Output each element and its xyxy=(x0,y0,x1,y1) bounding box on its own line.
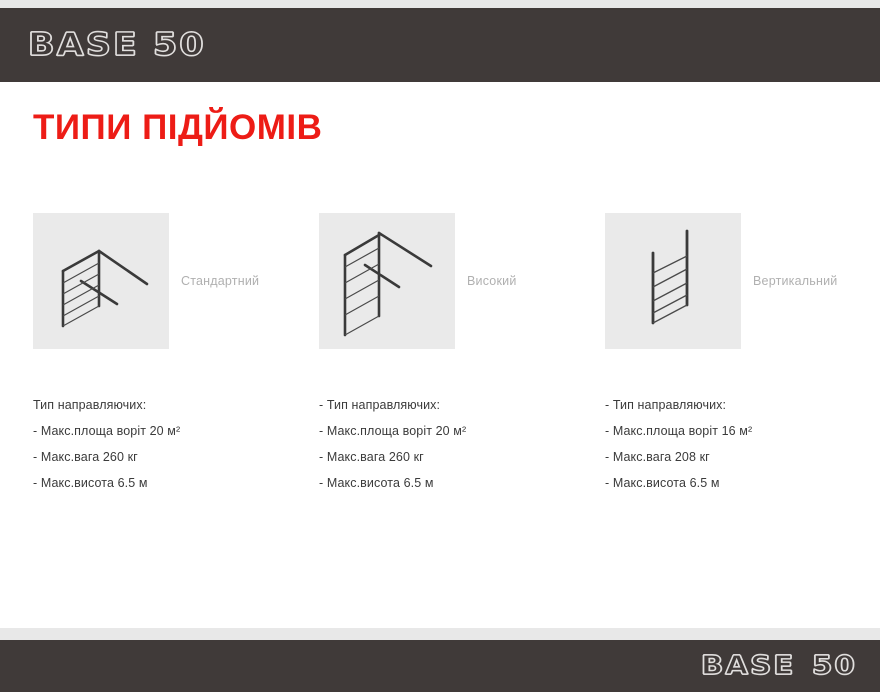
lift-types-row: Стандартний xyxy=(0,213,880,353)
vertical-lift-thumbnail xyxy=(605,213,741,349)
spec-line: - Тип направляючих: xyxy=(605,392,875,418)
logo-word-text: BASE xyxy=(28,30,139,61)
spec-line: - Макс.вага 208 кг xyxy=(605,444,875,470)
lift-type-label-high: Високий xyxy=(467,274,517,288)
footer-gap xyxy=(0,628,880,640)
slide: BASE 50 ТИПИ ПІДЙОМІВ xyxy=(0,0,880,700)
footer-bar: BASE 50 xyxy=(0,640,880,692)
lift-type-label-vertical: Вертикальний xyxy=(753,274,837,288)
high-lift-thumbnail xyxy=(319,213,455,349)
lift-type-card-vertical: Вертикальний xyxy=(605,213,837,349)
logo-number-text: 50 xyxy=(812,653,857,679)
header-logo: BASE 50 xyxy=(28,30,200,61)
lift-type-card-high: Високий xyxy=(319,213,517,349)
logo-number-text: 50 xyxy=(153,30,206,61)
spec-column-high: - Тип направляючих: - Макс.площа воріт 2… xyxy=(319,392,589,496)
spec-line: - Макс.площа воріт 20 м² xyxy=(319,418,589,444)
spec-column-standard: Тип направляючих: - Макс.площа воріт 20 … xyxy=(33,392,303,496)
vertical-lift-diagram xyxy=(605,213,741,349)
spec-line: Тип направляючих: xyxy=(33,392,303,418)
spec-line: - Тип направляючих: xyxy=(319,392,589,418)
footer-logo: BASE 50 xyxy=(701,653,852,679)
standard-lift-diagram xyxy=(33,213,169,349)
spec-line: - Макс.площа воріт 16 м² xyxy=(605,418,875,444)
logo-word-text: BASE xyxy=(701,653,796,679)
spec-line: - Макс.висота 6.5 м xyxy=(319,470,589,496)
spec-column-vertical: - Тип направляючих: - Макс.площа воріт 1… xyxy=(605,392,875,496)
lift-type-label-standard: Стандартний xyxy=(181,274,259,288)
spec-line: - Макс.вага 260 кг xyxy=(33,444,303,470)
spec-line: - Макс.висота 6.5 м xyxy=(605,470,875,496)
standard-lift-thumbnail xyxy=(33,213,169,349)
spec-line: - Макс.площа воріт 20 м² xyxy=(33,418,303,444)
top-page-margin xyxy=(0,0,880,8)
spec-line: - Макс.висота 6.5 м xyxy=(33,470,303,496)
bottom-page-margin xyxy=(0,692,880,700)
lift-type-card-standard: Стандартний xyxy=(33,213,259,349)
high-lift-diagram xyxy=(319,213,455,349)
spec-line: - Макс.вага 260 кг xyxy=(319,444,589,470)
header-bar: BASE 50 xyxy=(0,8,880,82)
page-title: ТИПИ ПІДЙОМІВ xyxy=(33,108,322,148)
